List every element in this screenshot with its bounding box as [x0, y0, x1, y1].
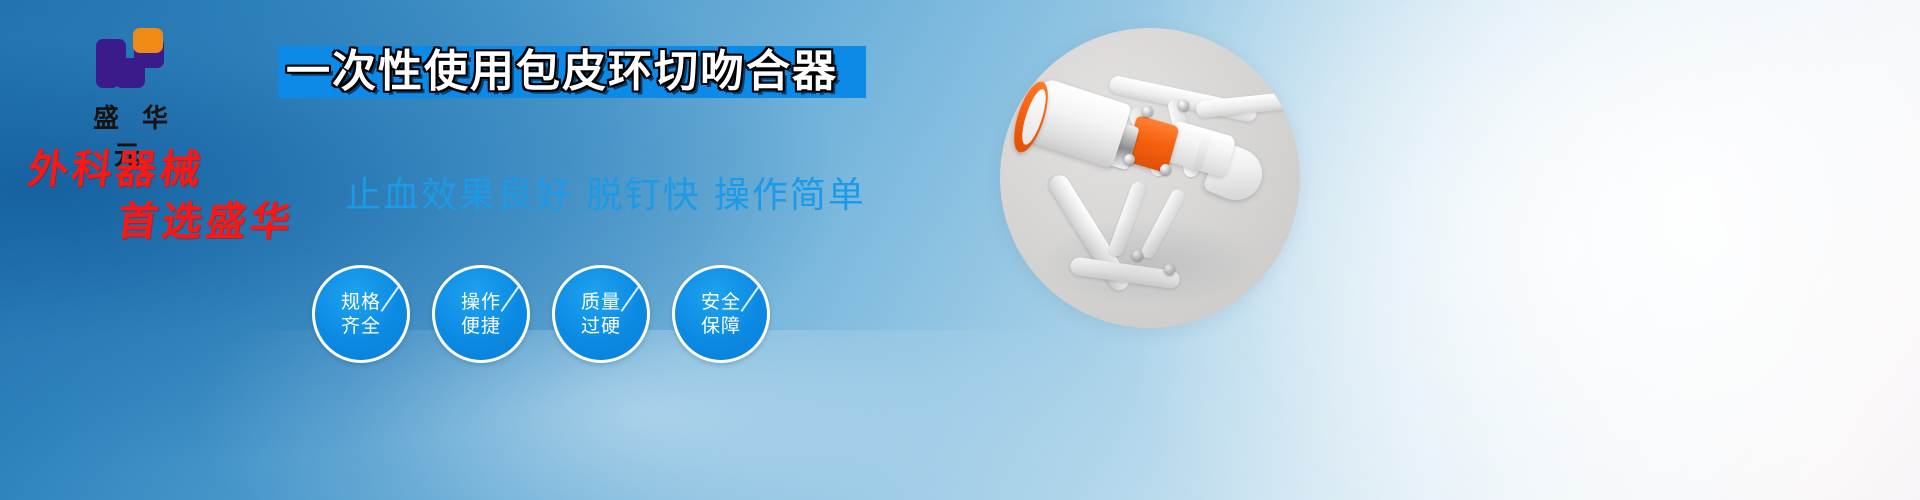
- logo-square-4: [96, 58, 119, 88]
- page-title: 一次性使用包皮环切吻合器: [286, 44, 886, 100]
- subtitle: 止血效果良好 脱钉快 操作简单: [345, 166, 866, 218]
- slogan-line-2: 首选盛华: [20, 202, 355, 242]
- feature-badge-quality[interactable]: 质量 过硬: [552, 265, 650, 363]
- device-pivot: [1164, 264, 1175, 275]
- feature-badge-specification[interactable]: 规格 齐全: [312, 265, 410, 363]
- device-link-d: [1139, 187, 1187, 261]
- feature-badge-line-1: 质量: [581, 290, 621, 314]
- feature-badge-line-2: 齐全: [341, 314, 381, 338]
- feature-badge-line-2: 过硬: [581, 314, 621, 338]
- product-banner: 盛 华 元 外科器械 首选盛华 一次性使用包皮环切吻合器 止血效果良好 脱钉快 …: [0, 0, 1920, 500]
- background-glow-right: [1250, 0, 1920, 500]
- feature-badge-line-2: 保障: [701, 314, 741, 338]
- product-photo-disc: [1000, 28, 1300, 328]
- device-pivot: [1142, 106, 1153, 117]
- feature-badge-list: 规格 齐全 操作 便捷 质量 过硬 安全 保障: [312, 265, 770, 363]
- feature-badge-line-1: 规格: [341, 290, 381, 314]
- slogan-line-1: 外科器械: [20, 150, 355, 190]
- feature-badge-line-1: 操作: [461, 290, 501, 314]
- feature-badge-safety[interactable]: 安全 保障: [672, 265, 770, 363]
- logo-square-orange: [133, 28, 163, 53]
- feature-badge-line-2: 便捷: [461, 314, 501, 338]
- device-pivot: [1160, 164, 1171, 175]
- disposable-circumcision-stapler-photo: [1000, 28, 1300, 328]
- device-pivot: [1178, 100, 1189, 111]
- product-image: [1000, 28, 1300, 328]
- device-pivot: [1124, 154, 1135, 165]
- feature-badge-line-1: 安全: [701, 290, 741, 314]
- company-logo-squares-icon: [96, 28, 166, 90]
- feature-badge-operation[interactable]: 操作 便捷: [432, 265, 530, 363]
- device-pivot: [1132, 250, 1143, 261]
- brush-slogan: 外科器械 首选盛华: [22, 150, 352, 242]
